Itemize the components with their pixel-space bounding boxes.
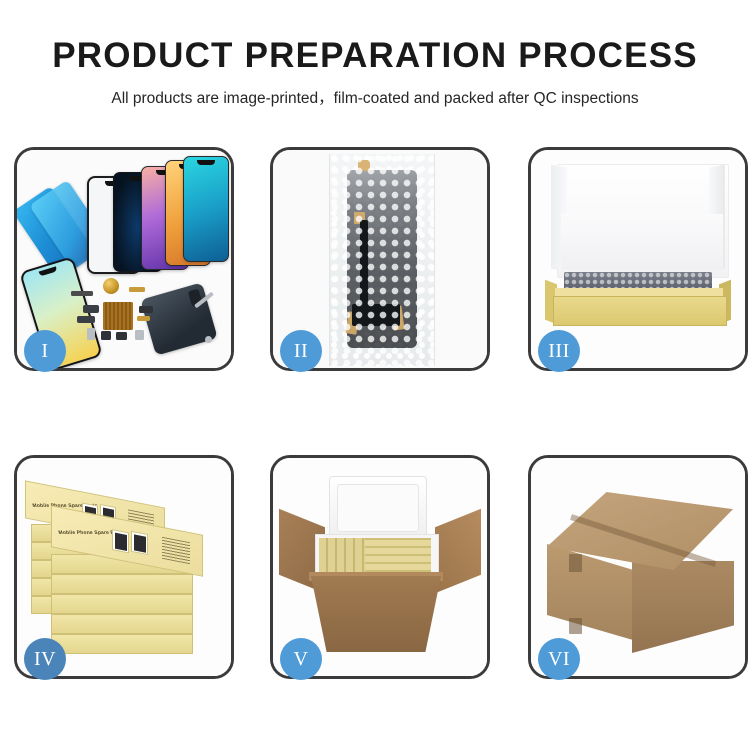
step-badge-3: III <box>538 330 580 372</box>
stacked-box-f2 <box>51 574 193 594</box>
camera-module-icon <box>101 331 111 340</box>
step-badge-2: II <box>280 330 322 372</box>
carton-handle-tab-bottom-icon <box>569 618 582 634</box>
antenna-part-icon <box>71 291 93 296</box>
step-panel-1[interactable]: I <box>14 147 234 371</box>
product-preparation-process-infographic: PRODUCT PREPARATION PROCESS All products… <box>0 0 750 750</box>
box-screen-thumb-4 <box>131 531 148 555</box>
chip-icon <box>139 306 153 313</box>
display-connector-icon <box>352 304 400 326</box>
gold-bracket-icon <box>137 316 150 321</box>
flex-cable-2-icon <box>77 316 95 323</box>
display-flex-cable-icon <box>360 220 368 312</box>
step-badge-6: VI <box>538 638 580 680</box>
step-badge-1: I <box>24 330 66 372</box>
foam-sheet-icon <box>561 214 723 270</box>
step-panel-6[interactable]: VI <box>528 455 748 679</box>
stacked-box-f4 <box>51 614 193 634</box>
step-panel-4[interactable]: Mobile Phone Spare Parts Mobile Phone Sp… <box>14 455 234 679</box>
small-screw-icon <box>135 330 144 340</box>
step-badge-4: IV <box>24 638 66 680</box>
logic-board-icon <box>103 302 133 330</box>
step-panel-5[interactable]: V <box>270 455 490 679</box>
gold-connector-icon <box>129 287 145 292</box>
foam-lid-icon <box>329 476 427 540</box>
yellow-tray-front-icon <box>553 296 727 326</box>
page-title: PRODUCT PREPARATION PROCESS <box>0 38 750 75</box>
screw-icon <box>205 336 212 343</box>
teal-phone-icon <box>183 156 229 262</box>
vibrator-icon <box>116 332 127 340</box>
bubble-wrap-bag-icon <box>329 154 435 366</box>
carton-handle-tab-top-icon <box>569 554 582 572</box>
box-screen-thumb-3 <box>112 529 129 553</box>
process-steps-grid: I II <box>14 147 736 687</box>
tape-piece-top-icon <box>358 160 370 171</box>
stacked-box-f5 <box>51 634 193 654</box>
step-badge-5: V <box>280 638 322 680</box>
carton-body-icon <box>311 576 441 652</box>
header: PRODUCT PREPARATION PROCESS All products… <box>0 38 750 108</box>
stacked-box-f3 <box>51 594 193 614</box>
speaker-part-icon <box>103 278 119 294</box>
box-spec-text-front <box>162 537 190 564</box>
page-subtitle: All products are image-printed，film-coat… <box>0 86 750 108</box>
flex-cable-icon <box>83 305 99 313</box>
step-panel-3[interactable]: III <box>528 147 748 371</box>
sim-tray-icon <box>87 328 95 340</box>
step-panel-2[interactable]: II <box>270 147 490 371</box>
